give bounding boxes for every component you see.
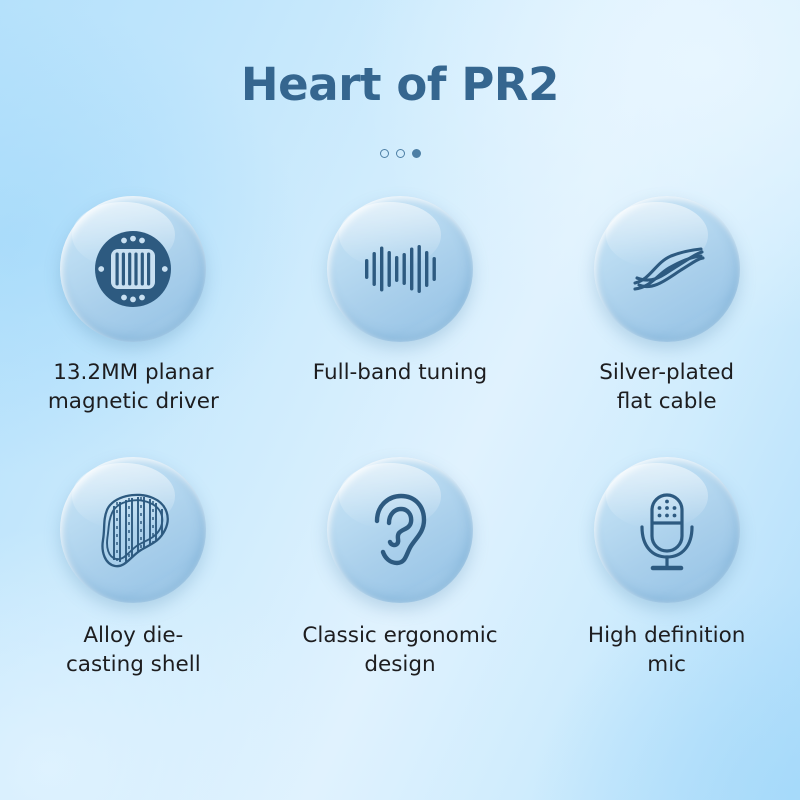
feature-icon-bubble — [60, 457, 206, 603]
feature-row-bottom: Alloy die- casting shell Classic ergonom… — [0, 457, 800, 679]
carousel-dot-1[interactable] — [380, 149, 389, 158]
caption-line-2: casting shell — [66, 651, 201, 680]
feature-caption: Alloy die- casting shell — [66, 622, 201, 679]
carousel-dot-2[interactable] — [396, 149, 405, 158]
product-feature-infographic: Heart of PR2 — [0, 0, 800, 800]
feature-item-tuning[interactable]: Full-band tuning — [267, 196, 534, 416]
caption-line-1: Classic ergonomic — [302, 623, 497, 648]
feature-caption: Silver-plated flat cable — [599, 359, 734, 416]
twisted-cable-icon — [621, 223, 713, 315]
carousel-dots[interactable] — [0, 149, 800, 158]
page-title: Heart of PR2 — [0, 58, 800, 111]
ear-icon — [354, 484, 446, 576]
caption-line-2: mic — [588, 651, 745, 680]
caption-line-1: High definition — [588, 623, 745, 648]
feature-grid: 13.2MM planar magnetic driver — [0, 196, 800, 679]
feature-icon-bubble — [594, 457, 740, 603]
earbud-shell-icon — [85, 482, 181, 578]
caption-line-1: Alloy die- — [83, 623, 183, 648]
feature-caption: 13.2MM planar magnetic driver — [48, 359, 219, 416]
caption-line-2: flat cable — [599, 388, 734, 417]
feature-item-driver[interactable]: 13.2MM planar magnetic driver — [0, 196, 267, 416]
caption-line-1: Silver-plated — [599, 360, 734, 385]
planar-magnetic-driver-icon — [87, 223, 179, 315]
feature-row-top: 13.2MM planar magnetic driver — [0, 196, 800, 416]
caption-line-2: magnetic driver — [48, 388, 219, 417]
feature-icon-bubble — [327, 457, 473, 603]
feature-icon-bubble — [60, 196, 206, 342]
caption-line-1: 13.2MM planar — [53, 360, 213, 385]
feature-item-mic[interactable]: High definition mic — [533, 457, 800, 679]
feature-caption: Full-band tuning — [313, 359, 487, 388]
feature-item-shell[interactable]: Alloy die- casting shell — [0, 457, 267, 679]
microphone-icon — [621, 484, 713, 576]
feature-icon-bubble — [594, 196, 740, 342]
feature-item-cable[interactable]: Silver-plated flat cable — [533, 196, 800, 416]
feature-caption: Classic ergonomic design — [302, 622, 497, 679]
feature-caption: High definition mic — [588, 622, 745, 679]
audio-waveform-icon — [354, 223, 446, 315]
feature-item-ergonomic[interactable]: Classic ergonomic design — [267, 457, 534, 679]
caption-line-1: Full-band tuning — [313, 360, 487, 385]
carousel-dot-3[interactable] — [412, 149, 421, 158]
caption-line-2: design — [302, 651, 497, 680]
feature-icon-bubble — [327, 196, 473, 342]
